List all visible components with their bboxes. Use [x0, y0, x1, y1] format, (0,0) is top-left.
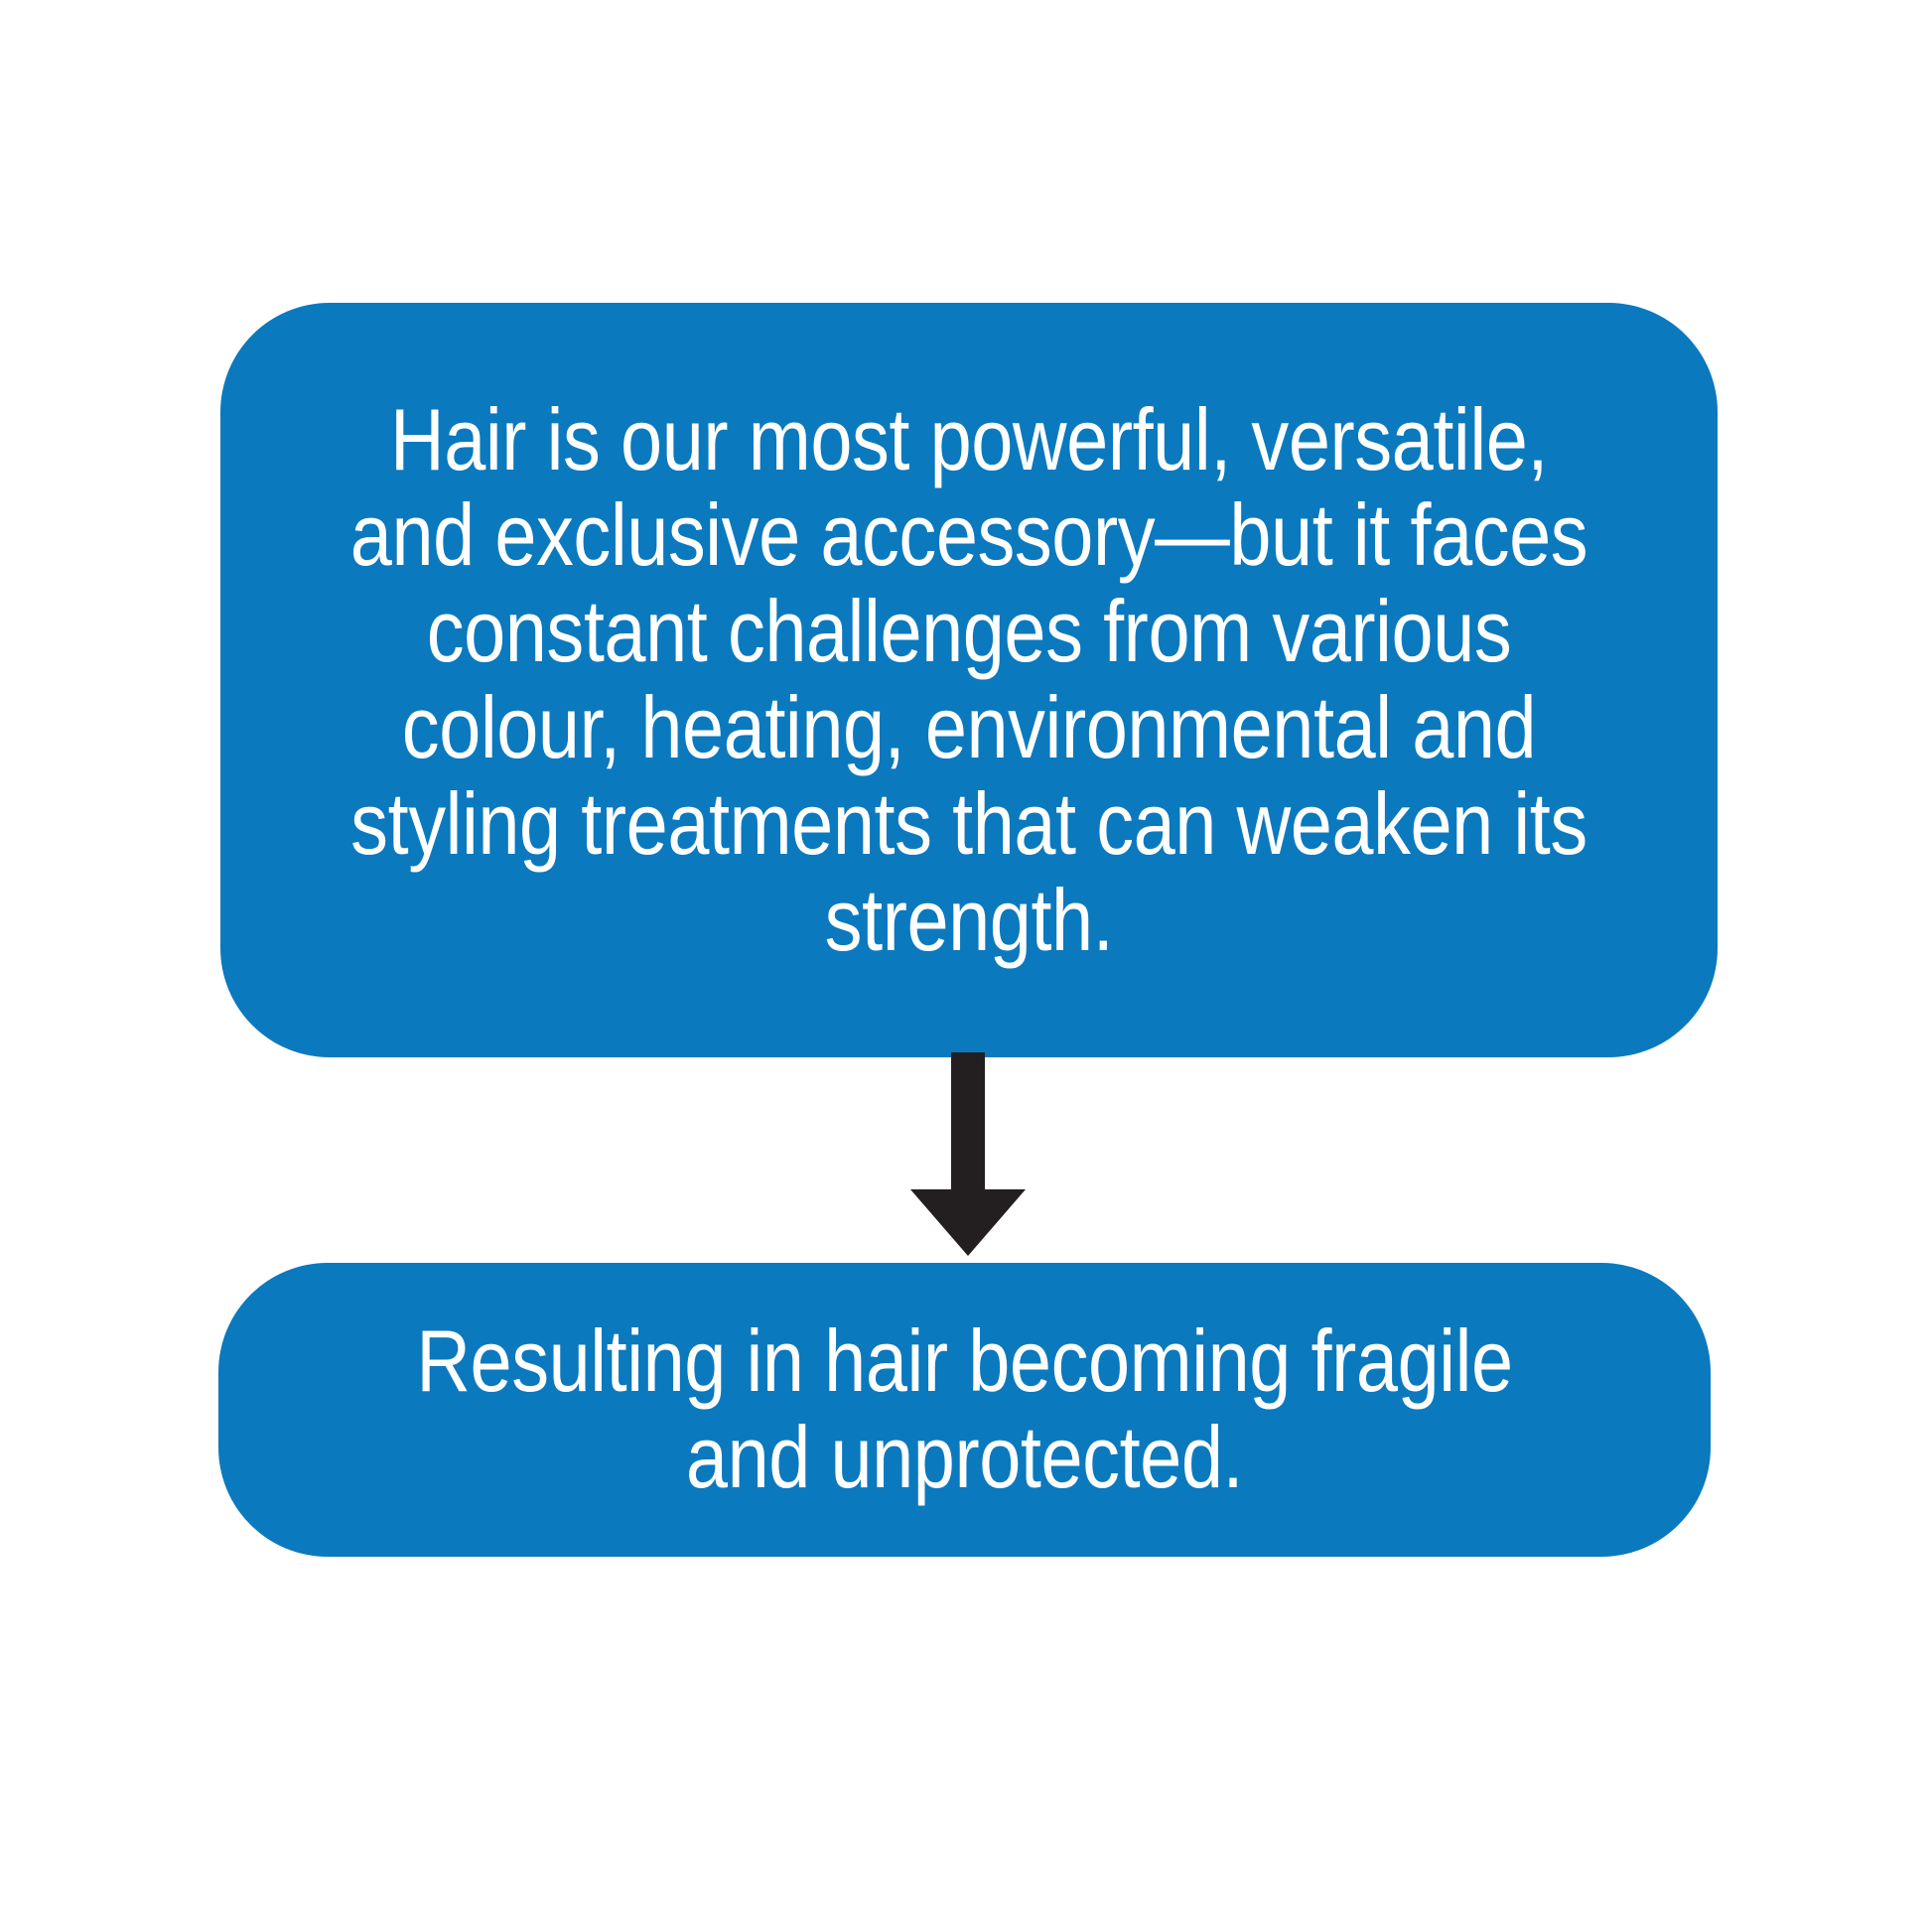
flow-node-outcome[interactable]: Resulting in hair becoming fragile and u… [218, 1263, 1711, 1557]
flow-node-outcome-text: Resulting in hair becoming fragile and u… [323, 1313, 1606, 1506]
flowchart-canvas: Hair is our most powerful, versatile, an… [0, 0, 1932, 1932]
connector-arrow-down [898, 1052, 1037, 1263]
flow-node-problem[interactable]: Hair is our most powerful, versatile, an… [220, 303, 1718, 1057]
flow-node-problem-text: Hair is our most powerful, versatile, an… [326, 392, 1613, 969]
arrow-down-icon [910, 1052, 1026, 1256]
